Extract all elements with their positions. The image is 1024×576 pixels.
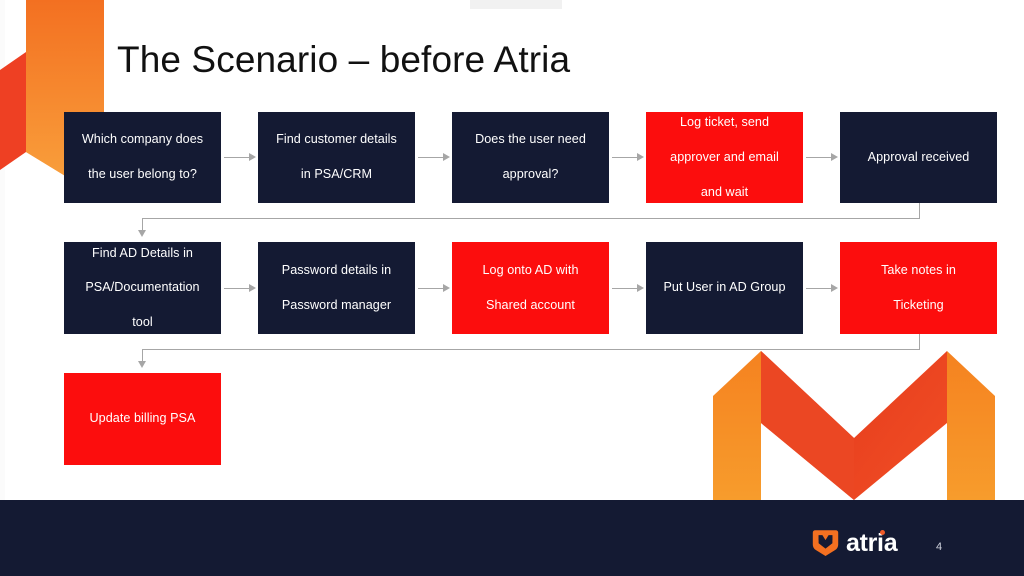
connector-line <box>418 157 445 158</box>
flow-step-update-billing-psa[interactable]: Update billing PSA <box>64 373 221 465</box>
page-title: The Scenario – before Atria <box>117 39 570 82</box>
connector-arrow-right <box>831 153 838 161</box>
flow-step-label: Take notes in Ticketing <box>881 262 956 314</box>
connector-arrow-right <box>249 153 256 161</box>
atria-shield-m-logo-icon <box>812 529 839 557</box>
connector-line <box>142 218 920 219</box>
background-brand-m-mark <box>713 348 995 500</box>
connector-arrow-right <box>831 284 838 292</box>
top-ghost-rectangle <box>470 0 562 9</box>
flow-step-label: Find customer details in PSA/CRM <box>276 131 397 183</box>
connector-arrow-down <box>138 361 146 368</box>
flow-step-log-ticket-send-approver[interactable]: Log ticket, send approver and email and … <box>646 112 803 203</box>
flow-step-label: Approval received <box>868 149 970 166</box>
flow-step-label: Update billing PSA <box>90 410 196 427</box>
connector-line <box>806 157 833 158</box>
connector-line <box>919 203 920 218</box>
connector-arrow-down <box>138 230 146 237</box>
connector-line <box>224 157 251 158</box>
slide-canvas: The Scenario – before Atria Which compan… <box>0 0 1024 576</box>
flow-step-label: Password details in Password manager <box>282 262 391 314</box>
flow-step-label: Put User in AD Group <box>663 279 785 296</box>
connector-arrow-right <box>443 284 450 292</box>
flow-step-log-onto-ad[interactable]: Log onto AD with Shared account <box>452 242 609 334</box>
flow-step-put-user-in-ad-group[interactable]: Put User in AD Group <box>646 242 803 334</box>
connector-line <box>612 288 639 289</box>
brand-wordmark-dot-icon <box>880 530 885 535</box>
connector-line <box>612 157 639 158</box>
flow-step-does-user-need-approval[interactable]: Does the user need approval? <box>452 112 609 203</box>
connector-line <box>224 288 251 289</box>
brand-wordmark: atria <box>846 531 897 556</box>
flow-step-find-ad-details[interactable]: Find AD Details in PSA/Documentation too… <box>64 242 221 334</box>
connector-arrow-right <box>249 284 256 292</box>
flow-step-label: Does the user need approval? <box>475 131 586 183</box>
connector-line <box>919 334 920 349</box>
footer-brand-logo[interactable]: atria <box>812 529 897 557</box>
flow-step-approval-received[interactable]: Approval received <box>840 112 997 203</box>
flow-step-label: Which company does the user belong to? <box>82 131 203 183</box>
connector-arrow-right <box>443 153 450 161</box>
flow-step-find-customer-details[interactable]: Find customer details in PSA/CRM <box>258 112 415 203</box>
connector-line <box>806 288 833 289</box>
flow-step-password-details[interactable]: Password details in Password manager <box>258 242 415 334</box>
connector-arrow-right <box>637 284 644 292</box>
flow-step-label: Log ticket, send approver and email and … <box>670 114 779 201</box>
page-number: 4 <box>936 541 942 553</box>
flow-step-label: Log onto AD with Shared account <box>482 262 578 314</box>
brand-wordmark-text: atria <box>846 529 897 557</box>
connector-arrow-right <box>637 153 644 161</box>
connector-line <box>418 288 445 289</box>
flow-step-take-notes-in-ticketing[interactable]: Take notes in Ticketing <box>840 242 997 334</box>
flow-step-label: Find AD Details in PSA/Documentation too… <box>85 245 199 332</box>
flow-step-which-company[interactable]: Which company does the user belong to? <box>64 112 221 203</box>
